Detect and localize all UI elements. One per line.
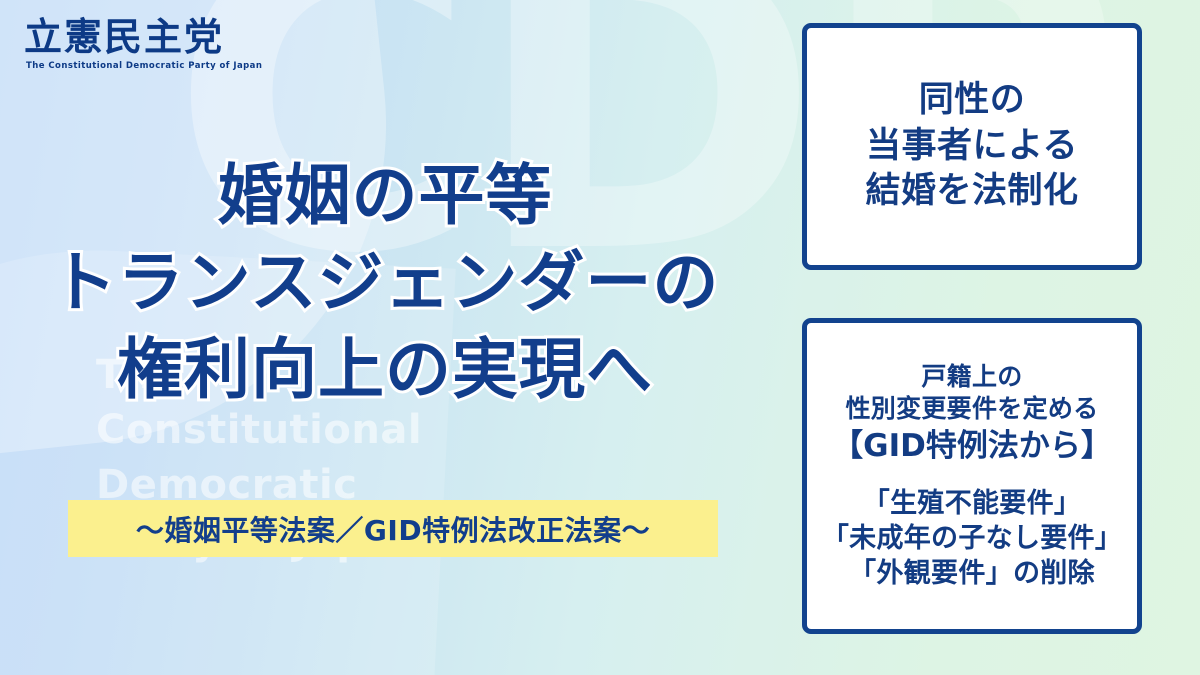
card-gid-act-revision: 戸籍上の 性別変更要件を定める 【GID特例法から】 「生殖不能要件」 「未成年… (802, 318, 1142, 634)
headline-line-3: 権利向上の実現へ (0, 326, 770, 413)
card-bottom-body: 「生殖不能要件」 「未成年の子なし要件」 「外観要件」の削除 (822, 486, 1122, 591)
card-top-line-3: 結婚を法制化 (865, 169, 1078, 215)
party-logo: 立憲民主党 The Constitutional Democratic Part… (24, 18, 262, 71)
card-bottom-body-line-2: 「未成年の子なし要件」 (822, 521, 1122, 556)
headline-line-2: トランスジェンダーの (0, 239, 770, 326)
headline-block: 婚姻の平等 トランスジェンダーの 権利向上の実現へ (0, 152, 770, 413)
card-bottom-head-line-1: 戸籍上の (832, 361, 1112, 394)
card-bottom-body-line-3: 「外観要件」の削除 (822, 556, 1122, 591)
card-top-line-1: 同性の (919, 78, 1026, 124)
party-logo-name-jp: 立憲民主党 (24, 18, 262, 58)
subtitle-text: 〜婚姻平等法案／GID特例法改正法案〜 (136, 509, 650, 549)
card-bottom-emphasis: 【GID特例法から】 (832, 426, 1112, 466)
card-bottom-head: 戸籍上の 性別変更要件を定める 【GID特例法から】 (832, 361, 1112, 466)
headline-line-1: 婚姻の平等 (0, 152, 770, 239)
slide-canvas: CDP The Constitutional Democratic Party … (0, 0, 1200, 675)
card-same-sex-marriage: 同性の 当事者による 結婚を法制化 (802, 23, 1142, 270)
party-logo-name-en: The Constitutional Democratic Party of J… (26, 61, 262, 71)
card-bottom-body-line-1: 「生殖不能要件」 (822, 486, 1122, 521)
card-top-line-2: 当事者による (866, 124, 1078, 170)
subtitle-highlight-bar: 〜婚姻平等法案／GID特例法改正法案〜 (68, 500, 718, 557)
card-bottom-head-line-2: 性別変更要件を定める (832, 393, 1112, 426)
